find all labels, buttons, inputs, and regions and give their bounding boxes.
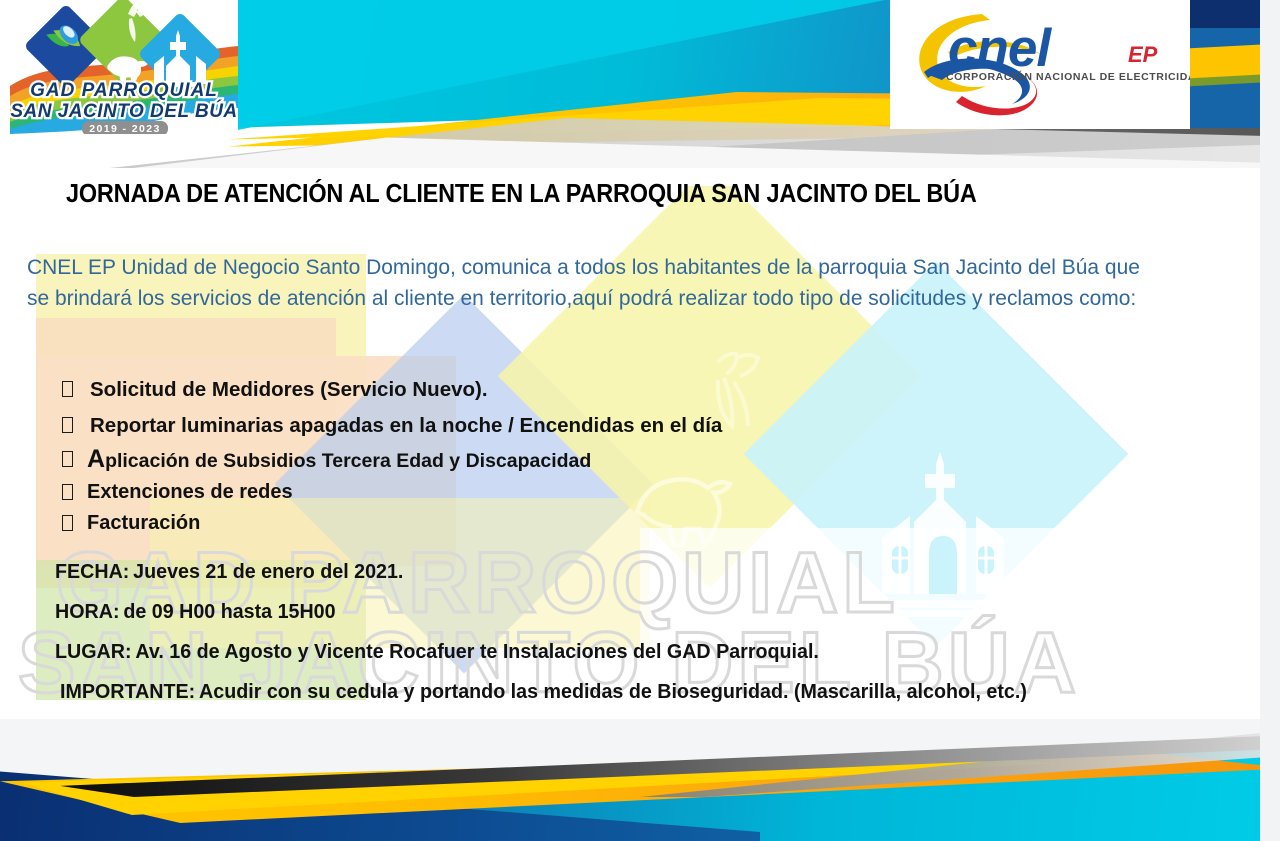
detail-hora: HORA:de 09 H00 hasta 15H00 xyxy=(55,600,1027,624)
list-item: Reportar luminarias apagadas en la noche… xyxy=(62,408,722,444)
intro-paragraph: CNEL EP Unidad de Negocio Santo Domingo,… xyxy=(27,252,1158,314)
list-item: Facturación xyxy=(62,508,722,539)
list-item: Aplicación de Subsidios Tercera Edad y D… xyxy=(62,444,722,477)
missing-glyph-box-icon xyxy=(62,381,73,397)
event-details: FECHA:Jueves 21 de enero del 2021. HORA:… xyxy=(55,560,1067,720)
detail-hora-value: de 09 H00 hasta 15H00 xyxy=(123,600,335,623)
missing-glyph-box-icon xyxy=(62,484,73,500)
list-item-label: Extenciones de redes xyxy=(87,477,293,508)
list-item-label-rest: plicación de Subsidios Tercera Edad y Di… xyxy=(105,450,591,472)
detail-importante-value: Acudir con su cedula y portando las medi… xyxy=(199,680,1027,703)
missing-glyph-box-icon xyxy=(62,417,73,433)
list-item-label: Facturación xyxy=(87,508,200,539)
list-item-lead-cap: A xyxy=(87,445,105,473)
page-title: JORNADA DE ATENCIÓN AL CLIENTE EN LA PAR… xyxy=(66,180,977,209)
detail-fecha: FECHA:Jueves 21 de enero del 2021. xyxy=(55,560,1027,584)
detail-lugar-value: Av. 16 de Agosto y Vicente Rocafuer te I… xyxy=(135,640,819,663)
right-edge-margin xyxy=(1260,0,1280,841)
flyer-text-content: JORNADA DE ATENCIÓN AL CLIENTE EN LA PAR… xyxy=(0,0,1280,841)
detail-fecha-value: Jueves 21 de enero del 2021. xyxy=(133,560,403,583)
bottom-banner-graphic xyxy=(0,719,1280,841)
services-list: Solicitud de Medidores (Servicio Nuevo).… xyxy=(62,372,722,539)
flyer-slide: GAD PARROQUIAL SAN JACINTO DEL BÚA 2019 … xyxy=(0,0,1280,841)
list-item: Solicitud de Medidores (Servicio Nuevo). xyxy=(62,372,722,408)
detail-hora-label: HORA: xyxy=(55,600,120,623)
detail-lugar-label: LUGAR: xyxy=(55,640,132,663)
detail-importante: IMPORTANTE:Acudir con su cedula y portan… xyxy=(60,680,1027,704)
list-item-label: Aplicación de Subsidios Tercera Edad y D… xyxy=(87,444,591,477)
list-item: Extenciones de redes xyxy=(62,477,722,508)
missing-glyph-box-icon xyxy=(62,515,73,531)
detail-lugar: LUGAR:Av. 16 de Agosto y Vicente Rocafue… xyxy=(55,640,1027,664)
missing-glyph-box-icon xyxy=(62,451,73,467)
list-item-label: Solicitud de Medidores (Servicio Nuevo). xyxy=(90,372,488,408)
list-item-label: Reportar luminarias apagadas en la noche… xyxy=(90,408,722,444)
detail-importante-label: IMPORTANTE: xyxy=(60,680,195,703)
detail-fecha-label: FECHA: xyxy=(55,560,129,583)
